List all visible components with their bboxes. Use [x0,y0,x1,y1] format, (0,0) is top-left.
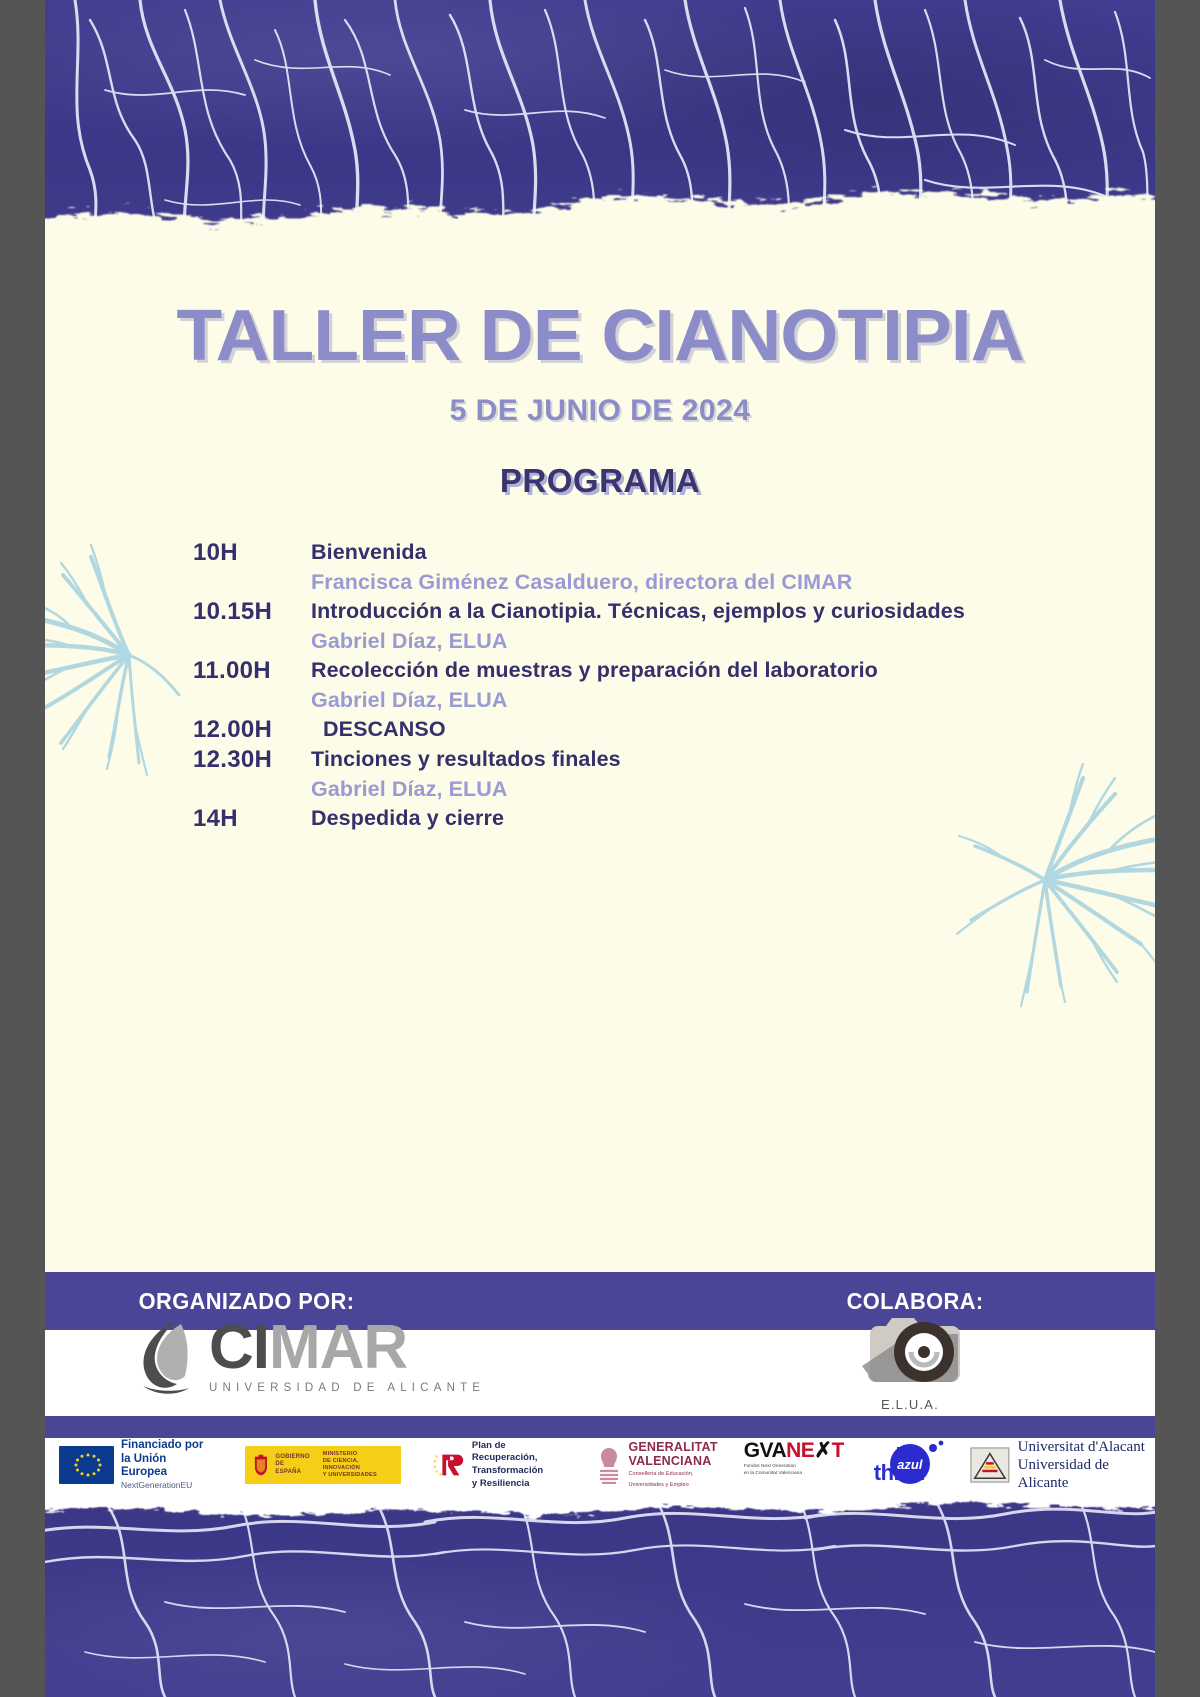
schedule-detail: Tinciones y resultados finales Gabriel D… [311,745,1155,804]
thinkinazul-circle: azul [890,1444,930,1484]
eu-funding-text: Financiado por la Unión Europea NextGene… [121,1439,211,1490]
schedule-time: 12.00H [193,715,311,745]
camera-icon [848,1308,972,1390]
gvanext-sub2: en la Comunitat Valenciana [744,1471,844,1477]
schedule-time: 14H [193,804,311,834]
eu-line3: NextGenerationEU [121,1481,211,1491]
prtr-mark-icon [431,1448,465,1482]
cimar-ci: CI [209,1313,269,1382]
torn-edge-top [45,160,1155,268]
cimar-text: CIMAR [209,1317,487,1379]
thinkinazul-azul: azul [897,1457,922,1472]
gobierno-box: GOBIERNO DE ESPAÑA MINISTERIO DE CIENCIA… [245,1446,401,1484]
gobierno-line2: DE ESPAÑA [275,1461,309,1476]
eu-funding-logo: Financiado por la Unión Europea NextGene… [59,1438,211,1492]
torn-edge-bottom [45,1492,1155,1561]
gvanext-ne: NE [786,1439,814,1462]
organized-by-label: ORGANIZADO POR: [139,1288,355,1315]
cimar-logo: CIMAR UNIVERSIDAD DE ALICANTE [137,1312,487,1400]
universidad-alicante-logo: Universitat d'Alacant Universidad de Ali… [970,1438,1155,1492]
page-title: TALLER DE CIANOTIPIA [45,300,1155,372]
schedule-row: 12.00H DESCANSO [45,715,1155,745]
prtr-line1: Plan de Recuperación, [472,1440,569,1465]
eu-flag-icon [59,1446,114,1484]
schedule-time: 11.00H [193,656,311,686]
schedule-detail: Recolección de muestras y preparación de… [311,656,1155,715]
schedule-title: Introducción a la Cianotipia. Técnicas, … [311,597,1155,626]
schedule-row: 14H Despedida y cierre [45,804,1155,834]
generalitat-line1: GENERALITAT [628,1441,717,1455]
event-date: 5 DE JUNIO DE 2024 [45,394,1155,428]
schedule-detail: Bienvenida Francisca Giménez Casalduero,… [311,538,1155,597]
elua-logo: E.L.U.A. [845,1308,975,1412]
thinkinazul-dots-icon [928,1440,944,1456]
prtr-text: Plan de Recuperación, Transformación y R… [472,1440,569,1490]
elua-caption: E.L.U.A. [845,1397,975,1412]
prtr-line2: Transformación [472,1465,569,1478]
schedule-detail: Despedida y cierre [311,804,1155,833]
generalitat-crest-icon [596,1446,622,1484]
ua-text: Universitat d'Alacant Universidad de Ali… [1018,1438,1155,1492]
cimar-mar: MAR [269,1313,407,1382]
poster-root: TALLER DE CIANOTIPIA 5 DE JUNIO DE 2024 … [45,0,1155,1697]
gvanext-wordmark: GVANE✗T [744,1438,844,1463]
gvanext-x: ✗ [814,1439,831,1462]
gvanext-logo: GVANE✗T Fondos Next Generation en la Com… [744,1438,844,1492]
thinkinazul-logo: in think azul [874,1438,924,1492]
cimar-leaf-icon [137,1312,193,1400]
prtr-line3: y Resiliencia [472,1478,569,1491]
schedule-time: 10.15H [193,597,311,627]
schedule-title: Bienvenida [311,538,1155,567]
schedule-title: Tinciones y resultados finales [311,745,1155,774]
schedule-row: 11.00H Recolección de muestras y prepara… [45,656,1155,715]
schedule-row: 10H Bienvenida Francisca Giménez Casaldu… [45,538,1155,597]
schedule-speaker: Francisca Giménez Casalduero, directora … [311,567,1155,597]
schedule-speaker: Gabriel Díaz, ELUA [311,626,1155,656]
spain-coat-of-arms-icon [253,1453,269,1477]
schedule-speaker: Gabriel Díaz, ELUA [311,685,1155,715]
gvanext-sub1: Fondos Next Generation [744,1464,844,1470]
generalitat-valenciana-logo: GENERALITAT VALENCIANA Conselleria de Ed… [596,1438,717,1492]
prtr-logo: Plan de Recuperación, Transformación y R… [431,1438,569,1492]
gvanext-t: T [831,1439,843,1462]
eu-line1: Financiado por [121,1439,211,1452]
cimar-tagline: UNIVERSIDAD DE ALICANTE [209,1383,487,1395]
generalitat-line4: Universidades y Empleo [628,1482,717,1489]
ministerio-line1: MINISTERIO [323,1451,393,1458]
gobierno-espana-logo: GOBIERNO DE ESPAÑA MINISTERIO DE CIENCIA… [245,1438,401,1492]
cyanotype-header-image [45,0,1155,268]
ua-mountain-icon [970,1446,1010,1484]
program-schedule: 10H Bienvenida Francisca Giménez Casaldu… [45,538,1155,834]
schedule-detail: DESCANSO [311,715,1155,744]
logo-row: CIMAR UNIVERSIDAD DE ALICANTE E.L.U.A. [45,1330,1155,1416]
ua-line2: Universidad de Alicante [1018,1456,1155,1492]
schedule-detail: Introducción a la Cianotipia. Técnicas, … [311,597,1155,656]
schedule-title: Recolección de muestras y preparación de… [311,656,1155,685]
ua-line1: Universitat d'Alacant [1018,1438,1155,1456]
gobierno-line1: GOBIERNO [275,1454,309,1462]
cimar-wordmark: CIMAR UNIVERSIDAD DE ALICANTE [209,1317,487,1395]
schedule-title: DESCANSO [311,715,1155,744]
generalitat-text: GENERALITAT VALENCIANA Conselleria de Ed… [628,1441,717,1489]
title-block: TALLER DE CIANOTIPIA 5 DE JUNIO DE 2024 … [45,300,1155,500]
ministerio-line2: DE CIENCIA, INNOVACIÓN [323,1458,393,1472]
cyanotype-footer-image [45,1492,1155,1697]
schedule-title: Despedida y cierre [311,804,1155,833]
gobierno-text: GOBIERNO DE ESPAÑA [275,1454,309,1477]
program-heading: PROGRAMA [45,462,1155,500]
ministerio-text: MINISTERIO DE CIENCIA, INNOVACIÓN Y UNIV… [323,1451,393,1479]
sponsor-strip: Financiado por la Unión Europea NextGene… [45,1438,1155,1492]
schedule-row: 12.30H Tinciones y resultados finales Ga… [45,745,1155,804]
generalitat-line3: Conselleria de Educación, [628,1471,717,1478]
gvanext-gva: GVA [744,1439,786,1462]
schedule-time: 12.30H [193,745,311,775]
eu-line2: la Unión Europea [121,1453,211,1479]
schedule-time: 10H [193,538,311,568]
purple-divider-rule [45,1416,1155,1438]
schedule-speaker: Gabriel Díaz, ELUA [311,774,1155,804]
generalitat-line2: VALENCIANA [628,1455,717,1469]
schedule-row: 10.15H Introducción a la Cianotipia. Téc… [45,597,1155,656]
ministerio-line3: Y UNIVERSIDADES [323,1472,393,1479]
